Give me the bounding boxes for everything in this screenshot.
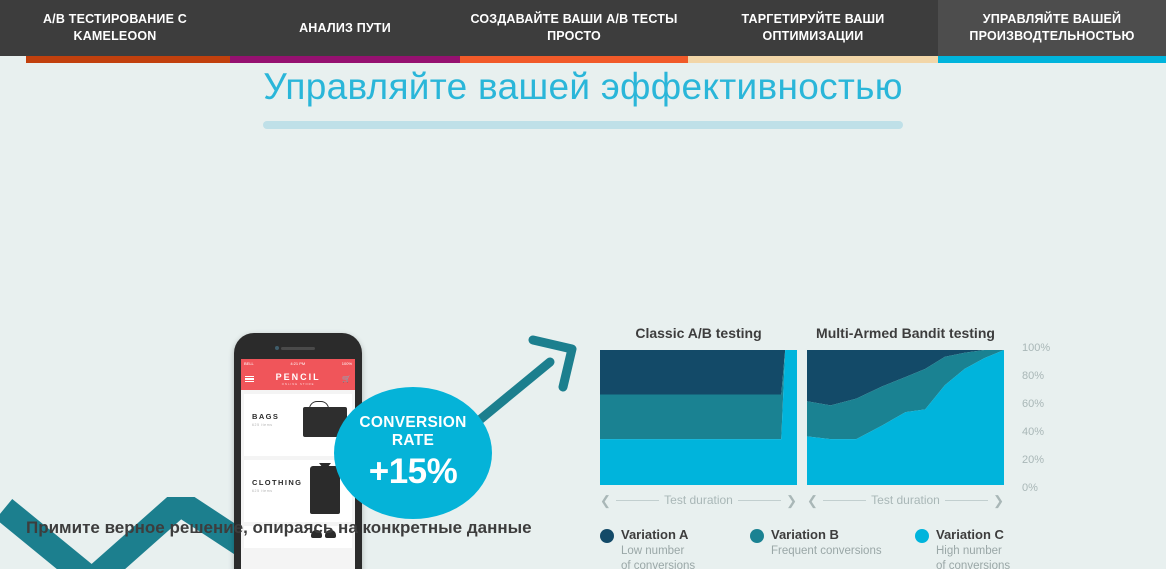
x-axis-label: Test duration	[664, 493, 733, 507]
underbar-segment-1	[230, 56, 460, 63]
nav-tab-label: СОЗДАВАЙТЕ ВАШИ A/B ТЕСТЫ ПРОСТО	[470, 11, 678, 45]
badge-value: +15%	[369, 452, 458, 492]
phone-status-bar: BELL 4:21 PM 100%	[241, 359, 355, 368]
page-heading-section: Управляйте вашей эффективностью	[0, 66, 1166, 129]
legend-item-variation-a: Variation ALow number of conversions	[600, 527, 750, 569]
phone-app-bar: PENCIL ONLINE STORE 🛒	[241, 368, 355, 390]
chart-legend: Variation ALow number of conversionsVari…	[600, 527, 1010, 569]
arrow-right-icon: ❯	[993, 494, 1004, 507]
underbar-segment-2	[460, 56, 688, 63]
status-carrier: BELL	[244, 361, 254, 366]
x-axis-label: Test duration	[871, 493, 940, 507]
app-brand-tagline: ONLINE STORE	[254, 382, 342, 386]
status-time: 4:21 PM	[290, 361, 305, 366]
page-title: Управляйте вашей эффективностью	[0, 66, 1166, 108]
chart-title-classic: Classic A/B testing	[600, 325, 797, 341]
footer-tagline: Примите верное решение, опираясь на конк…	[26, 518, 532, 538]
nav-tab-4[interactable]: УПРАВЛЯЙТЕ ВАШЕЙ ПРОИЗВОДТЕЛЬНОСТЬЮ	[938, 0, 1166, 56]
y-axis-tick: 60%	[1014, 398, 1062, 410]
legend-series-description: Low number of conversions	[621, 544, 695, 569]
chart-title-mab: Multi-Armed Bandit testing	[807, 325, 1004, 341]
legend-text-block: Variation CHigh number of conversions	[936, 527, 1010, 569]
y-axis-tick: 40%	[1014, 426, 1062, 438]
nav-tab-3[interactable]: ТАРГЕТИРУЙТЕ ВАШИ ОПТИМИЗАЦИИ	[688, 0, 938, 56]
phone-camera	[275, 346, 279, 350]
y-axis-tick: 100%	[1014, 342, 1062, 354]
legend-series-name: Variation B	[771, 527, 882, 542]
charts-panel: Classic A/B testing Multi-Armed Bandit t…	[600, 325, 1010, 569]
status-battery: 100%	[342, 361, 352, 366]
legend-color-dot	[915, 529, 929, 543]
y-axis-tick: 80%	[1014, 370, 1062, 382]
plot-multi-armed-bandit	[807, 350, 1004, 485]
top-navigation: A/B ТЕСТИРОВАНИЕ С KAMELEOON АНАЛИЗ ПУТИ…	[0, 0, 1166, 56]
axis-line	[945, 500, 988, 501]
phone-speaker	[281, 347, 315, 350]
legend-item-variation-b: Variation BFrequent conversions	[750, 527, 915, 569]
nav-tab-label: АНАЛИЗ ПУТИ	[299, 20, 391, 37]
nav-tab-label: A/B ТЕСТИРОВАНИЕ С KAMELEOON	[10, 11, 220, 45]
legend-text-block: Variation ALow number of conversions	[621, 527, 695, 569]
legend-text-block: Variation BFrequent conversions	[771, 527, 882, 569]
legend-series-description: Frequent conversions	[771, 544, 882, 559]
hamburger-icon[interactable]	[245, 374, 254, 384]
underbar-segment-4	[938, 56, 1166, 63]
badge-label-line2: RATE	[392, 432, 434, 450]
plot-classic-ab	[600, 350, 797, 485]
nav-tab-2[interactable]: СОЗДАВАЙТЕ ВАШИ A/B ТЕСТЫ ПРОСТО	[460, 0, 688, 56]
axis-line	[616, 500, 659, 501]
heading-underline-rule	[263, 121, 903, 129]
chart-titles-row: Classic A/B testing Multi-Armed Bandit t…	[600, 325, 1010, 341]
app-brand-name: PENCIL	[254, 372, 342, 382]
y-axis-tick: 0%	[1014, 482, 1062, 494]
arrow-left-icon: ❮	[807, 494, 818, 507]
cart-icon[interactable]: 🛒	[342, 375, 351, 383]
chart-y-axis: 100%80%60%40%20%0%	[1014, 342, 1062, 494]
x-axis-mab: ❮ Test duration ❯	[807, 493, 1004, 507]
x-axis-classic: ❮ Test duration ❯	[600, 493, 797, 507]
axis-line	[823, 500, 866, 501]
badge-label-line1: CONVERSION	[359, 414, 466, 432]
underbar-segment-0	[26, 56, 230, 63]
nav-tab-1[interactable]: АНАЛИЗ ПУТИ	[230, 0, 460, 56]
legend-series-name: Variation A	[621, 527, 695, 542]
legend-item-variation-c: Variation CHigh number of conversions	[915, 527, 1010, 569]
legend-series-description: High number of conversions	[936, 544, 1010, 569]
nav-tab-label: ТАРГЕТИРУЙТЕ ВАШИ ОПТИМИЗАЦИИ	[698, 11, 928, 45]
legend-color-dot	[600, 529, 614, 543]
product-shirt-image	[310, 466, 340, 514]
chart-plots-row: 100%80%60%40%20%0%	[600, 350, 1010, 485]
legend-series-name: Variation C	[936, 527, 1010, 542]
nav-tab-label: УПРАВЛЯЙТЕ ВАШЕЙ ПРОИЗВОДТЕЛЬНОСТЬЮ	[948, 11, 1156, 45]
y-axis-tick: 20%	[1014, 454, 1062, 466]
arrow-right-icon: ❯	[786, 494, 797, 507]
chart-x-axis-row: ❮ Test duration ❯ ❮ Test duration ❯	[600, 493, 1010, 507]
arrow-left-icon: ❮	[600, 494, 611, 507]
app-brand-block: PENCIL ONLINE STORE	[254, 372, 342, 386]
axis-line	[738, 500, 781, 501]
legend-color-dot	[750, 529, 764, 543]
underbar-gap	[0, 56, 26, 63]
nav-tab-0[interactable]: A/B ТЕСТИРОВАНИЕ С KAMELEOON	[0, 0, 230, 56]
illustration-stage: BELL 4:21 PM 100% PENCIL ONLINE STORE 🛒 …	[0, 129, 1166, 519]
conversion-rate-badge: CONVERSION RATE +15%	[334, 387, 492, 519]
area-series-variation-a	[600, 350, 797, 395]
underbar-segment-3	[688, 56, 938, 63]
nav-color-underbar	[0, 56, 1166, 63]
